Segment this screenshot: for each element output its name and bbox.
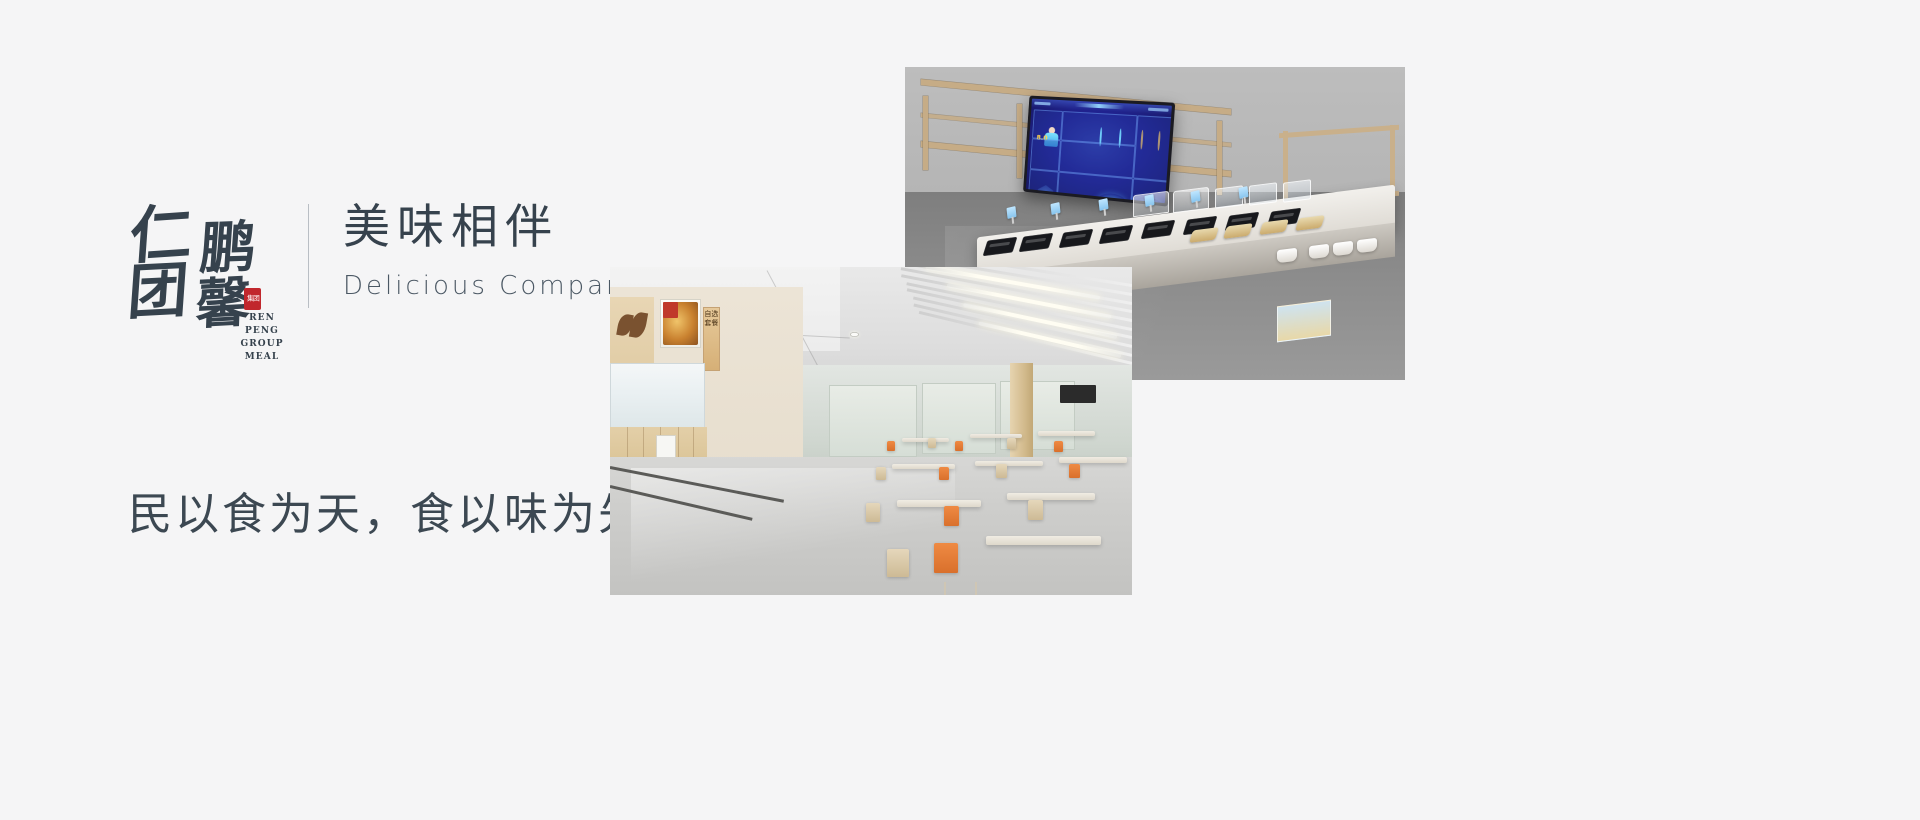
canteen-interior-photo: 自选套餐 <box>610 267 1132 595</box>
logo-en-line-1: REN PENG <box>232 312 292 338</box>
seal-text: 集团 <box>247 296 259 303</box>
logo-en-line-3: MEAL <box>232 351 292 364</box>
red-seal-icon: 集团 <box>244 288 261 310</box>
ren-peng-group-meal-logo: 仁 鹏 团 馨 集团 REN PENG GROUP MEAL <box>128 200 278 335</box>
dashboard-card-radar <box>1030 138 1061 171</box>
logo-character-peng: 鹏 <box>198 219 258 277</box>
page-title: 美味相伴 <box>343 202 740 255</box>
banner-stage: 仁 鹏 团 馨 集团 REN PENG GROUP MEAL 美味相伴 Deli… <box>0 0 1920 820</box>
logo-en-line-2: GROUP <box>232 338 292 351</box>
dashboard-card-score: 8.0 <box>1032 109 1063 140</box>
vertical-divider <box>308 204 309 308</box>
foreground-chair <box>934 543 958 573</box>
logo-character-tuan: 团 <box>126 260 191 323</box>
dashboard-card-list <box>1133 115 1172 181</box>
menu-poster <box>1277 300 1331 343</box>
logo-english-lockup: REN PENG GROUP MEAL <box>232 312 292 364</box>
dining-area <box>610 267 1132 595</box>
slogan-text: 民以食为天，食以味为先 <box>128 478 645 542</box>
